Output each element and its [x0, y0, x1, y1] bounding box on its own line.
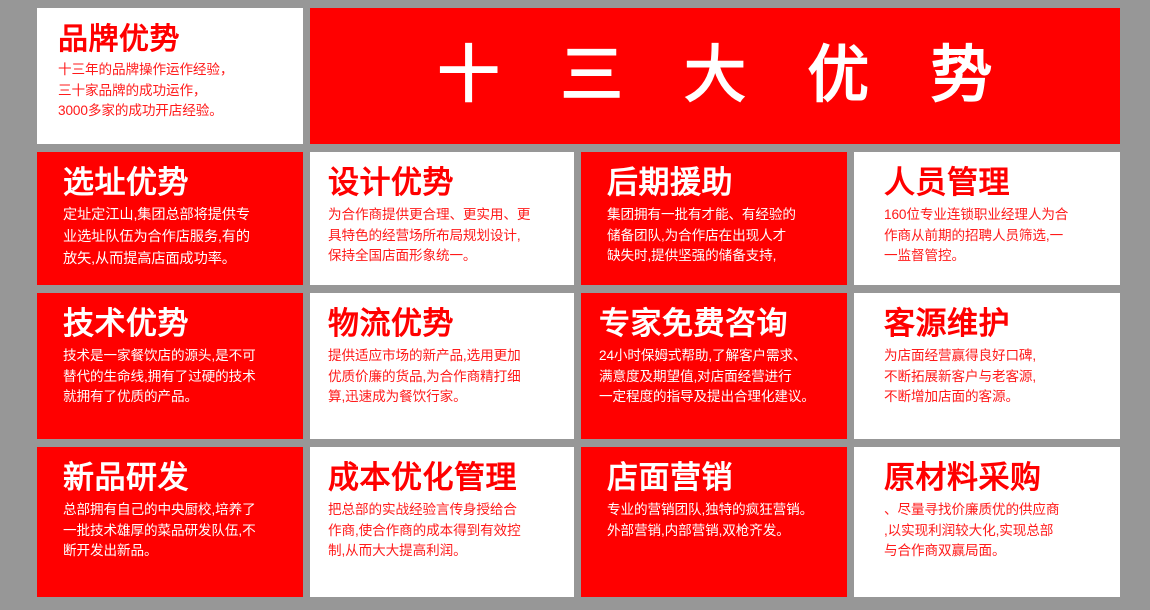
card-body: 十三年的品牌操作运作经验， 三十家品牌的成功运作， 3000多家的成功开店经验。: [58, 60, 287, 121]
card-raw-material-procurement[interactable]: 原材料采购 、尽量寻找价廉质优的供应商 ,以实现利润较大化,实现总部 与合作商双…: [854, 447, 1120, 597]
card-title: 物流优势: [328, 307, 558, 340]
card-title: 人员管理: [884, 166, 1104, 199]
card-title: 专家免费咨询: [599, 307, 831, 340]
card-personnel-management[interactable]: 人员管理 160位专业连锁职业经理人为合 作商从前期的招聘人员筛选,一 一监督管…: [854, 152, 1120, 285]
card-body: 为店面经营赢得良好口碑, 不断拓展新客户与老客源, 不断增加店面的客源。: [884, 346, 1104, 407]
card-body: 技术是一家餐饮店的源头,是不可 替代的生命线,拥有了过硬的技术 就拥有了优质的产…: [63, 346, 287, 407]
card-title: 设计优势: [328, 166, 558, 199]
card-body: 提供适应市场的新产品,选用更加 优质价廉的货品,为合作商精打细 算,迅速成为餐饮…: [328, 346, 558, 407]
card-title: 新品研发: [63, 461, 287, 494]
card-body: 定址定江山,集团总部将提供专 业选址队伍为合作店服务,有的 放矢,从而提高店面成…: [63, 205, 287, 270]
card-title: 技术优势: [63, 307, 287, 340]
card-cost-optimization-management[interactable]: 成本优化管理 把总部的实战经验言传身授给合 作商,使合作商的成本得到有效控 制,…: [310, 447, 574, 597]
card-body: 、尽量寻找价廉质优的供应商 ,以实现利润较大化,实现总部 与合作商双赢局面。: [884, 500, 1104, 561]
banner-title: 十 三 大 优 势: [416, 45, 1015, 107]
card-body: 专业的营销团队,独特的疯狂营销。 外部营销,内部营销,双枪齐发。: [607, 500, 831, 541]
card-brand-advantage[interactable]: 品牌优势 十三年的品牌操作运作经验， 三十家品牌的成功运作， 3000多家的成功…: [37, 8, 303, 144]
card-body: 把总部的实战经验言传身授给合 作商,使合作商的成本得到有效控 制,从而大大提高利…: [328, 500, 558, 561]
card-site-selection-advantage[interactable]: 选址优势 定址定江山,集团总部将提供专 业选址队伍为合作店服务,有的 放矢,从而…: [37, 152, 303, 285]
card-technology-advantage[interactable]: 技术优势 技术是一家餐饮店的源头,是不可 替代的生命线,拥有了过硬的技术 就拥有…: [37, 293, 303, 439]
card-body: 集团拥有一批有才能、有经验的 储备团队,为合作店在出现人才 缺失时,提供坚强的储…: [607, 205, 831, 266]
advantages-poster: 品牌优势 十三年的品牌操作运作经验， 三十家品牌的成功运作， 3000多家的成功…: [0, 0, 1150, 610]
card-title: 原材料采购: [884, 461, 1104, 494]
card-title: 成本优化管理: [328, 461, 558, 494]
card-title: 客源维护: [884, 307, 1104, 340]
card-expert-free-consulting[interactable]: 专家免费咨询 24小时保姆式帮助,了解客户需求、 满意度及期望值,对店面经营进行…: [581, 293, 847, 439]
card-title: 后期援助: [607, 166, 831, 199]
main-banner: 十 三 大 优 势: [310, 8, 1120, 144]
card-late-stage-support[interactable]: 后期援助 集团拥有一批有才能、有经验的 储备团队,为合作店在出现人才 缺失时,提…: [581, 152, 847, 285]
advantages-grid: 品牌优势 十三年的品牌操作运作经验， 三十家品牌的成功运作， 3000多家的成功…: [37, 8, 1112, 596]
card-body: 为合作商提供更合理、更实用、更 具特色的经营场所布局规划设计, 保持全国店面形象…: [328, 205, 558, 266]
card-title: 店面营销: [607, 461, 831, 494]
card-body: 总部拥有自己的中央厨校,培养了 一批技术雄厚的菜品研发队伍,不 断开发出新品。: [63, 500, 287, 561]
card-body: 24小时保姆式帮助,了解客户需求、 满意度及期望值,对店面经营进行 一定程度的指…: [599, 346, 831, 407]
card-new-product-development[interactable]: 新品研发 总部拥有自己的中央厨校,培养了 一批技术雄厚的菜品研发队伍,不 断开发…: [37, 447, 303, 597]
card-body: 160位专业连锁职业经理人为合 作商从前期的招聘人员筛选,一 一监督管控。: [884, 205, 1104, 266]
card-logistics-advantage[interactable]: 物流优势 提供适应市场的新产品,选用更加 优质价廉的货品,为合作商精打细 算,迅…: [310, 293, 574, 439]
card-title: 选址优势: [63, 166, 287, 199]
card-title: 品牌优势: [58, 24, 287, 56]
card-customer-base-maintenance[interactable]: 客源维护 为店面经营赢得良好口碑, 不断拓展新客户与老客源, 不断增加店面的客源…: [854, 293, 1120, 439]
card-design-advantage[interactable]: 设计优势 为合作商提供更合理、更实用、更 具特色的经营场所布局规划设计, 保持全…: [310, 152, 574, 285]
card-store-marketing[interactable]: 店面营销 专业的营销团队,独特的疯狂营销。 外部营销,内部营销,双枪齐发。: [581, 447, 847, 597]
